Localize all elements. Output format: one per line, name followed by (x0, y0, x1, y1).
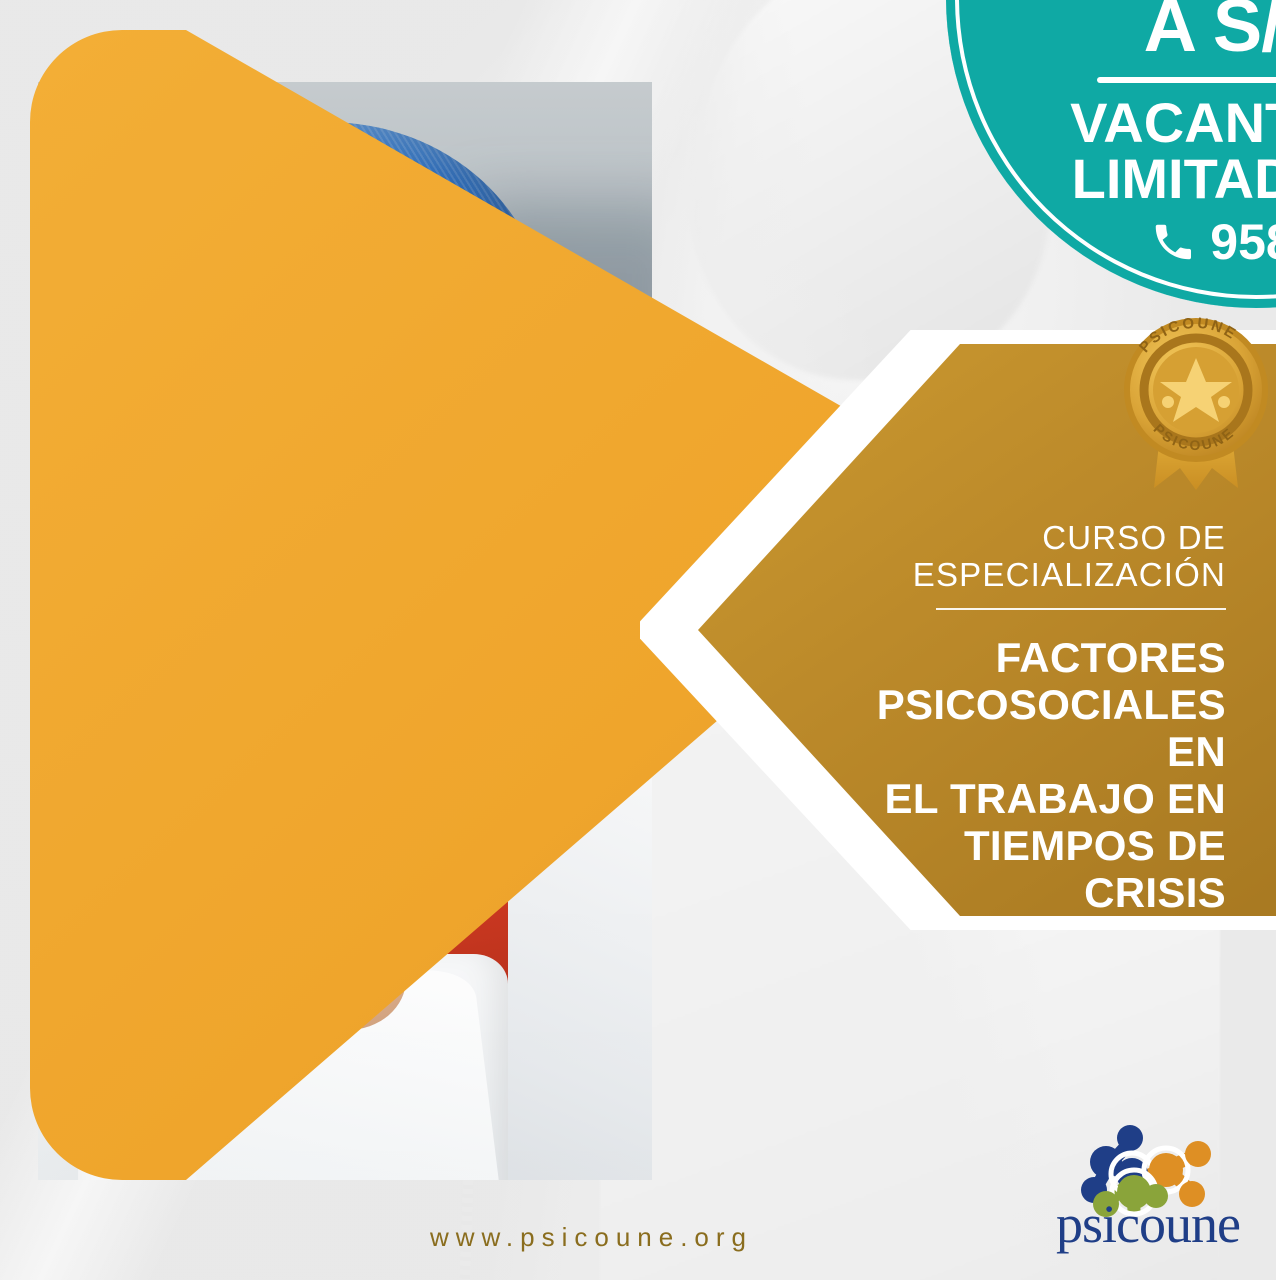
phone-icon (1150, 219, 1196, 265)
promo-vacancy-line-1: VACANTES (1012, 95, 1276, 151)
title-line-1: FACTORES (820, 634, 1226, 681)
title-line-5: CRISIS (820, 869, 1226, 916)
promo-phone-row[interactable]: 958 (1012, 213, 1276, 271)
poster-canvas: CURSO DE ESPECIALIZACIÓN FACTORES PSICOS… (0, 0, 1276, 1280)
atom-blue-top (1117, 1125, 1143, 1151)
title-line-3: EL TRABAJO EN (820, 775, 1226, 822)
psicoune-logo[interactable]: psicoune (1052, 1112, 1262, 1262)
title-line-4: TIEMPOS DE (820, 822, 1226, 869)
promo-badge-content: A S/. VACANTES LIMITADAS 958 (1012, 0, 1276, 271)
promo-vacancy-line-2: LIMITADAS (1012, 151, 1276, 207)
promo-divider (1097, 77, 1276, 83)
logo-wordmark: psicoune (1056, 1194, 1240, 1254)
kicker-divider (936, 608, 1226, 610)
kicker-line-2: ESPECIALIZACIÓN (820, 557, 1226, 594)
kicker-line-1: CURSO DE (820, 520, 1226, 557)
promo-price: A S/. (1012, 0, 1276, 63)
atom-orange-top (1185, 1141, 1211, 1167)
course-title-block: CURSO DE ESPECIALIZACIÓN FACTORES PSICOS… (820, 520, 1250, 916)
award-seal-icon: PSICOUNE PSICOUNE (1110, 302, 1276, 492)
title-line-2: PSICOSOCIALES EN (820, 681, 1226, 775)
promo-phone-number: 958 (1210, 213, 1276, 271)
course-kicker: CURSO DE ESPECIALIZACIÓN (820, 520, 1226, 594)
seal-dot-right (1218, 396, 1230, 408)
seal-dot-left (1162, 396, 1174, 408)
website-url[interactable]: www.psicoune.org (430, 1222, 753, 1253)
course-title: FACTORES PSICOSOCIALES EN EL TRABAJO EN … (820, 634, 1226, 916)
